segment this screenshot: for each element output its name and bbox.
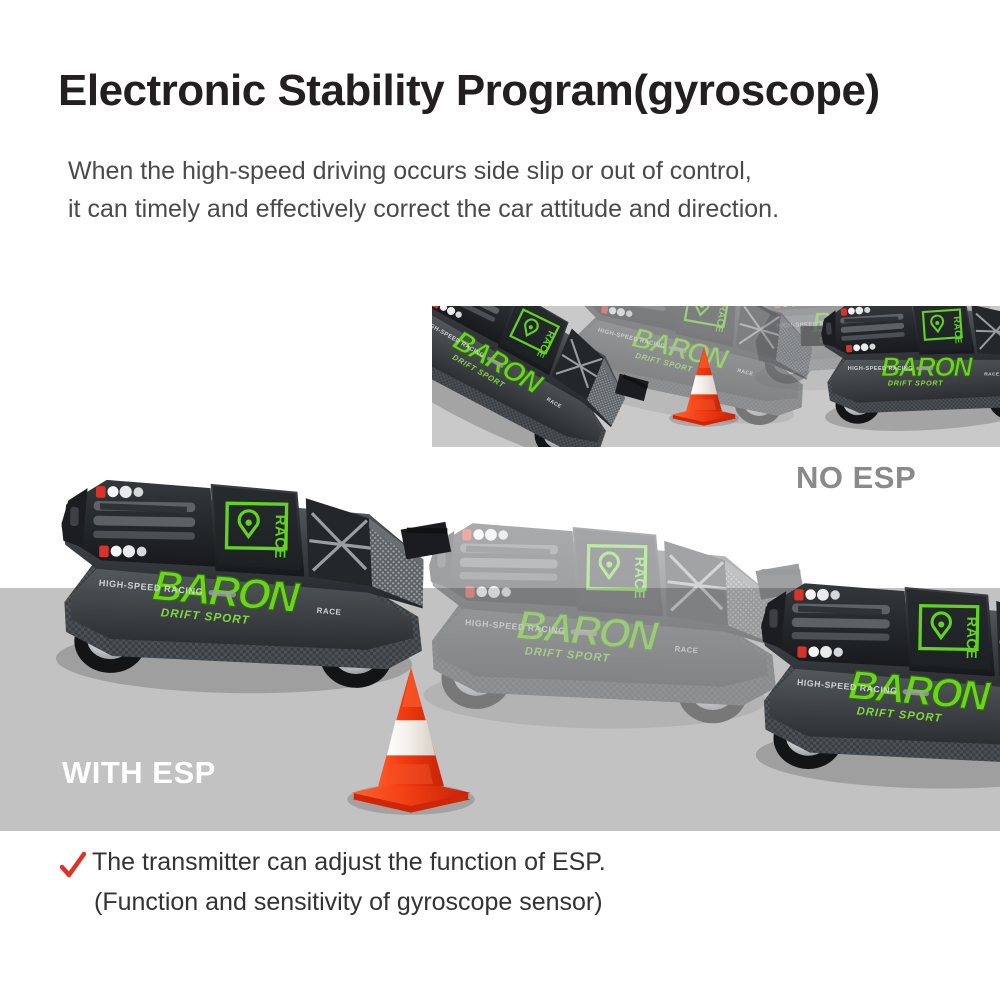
footer-note: The transmitter can adjust the function … bbox=[60, 848, 940, 917]
no-esp-scene-panel bbox=[432, 306, 1000, 447]
no-esp-label: NO ESP bbox=[796, 460, 916, 496]
footer-note-row: The transmitter can adjust the function … bbox=[60, 848, 940, 880]
subtitle-line-1: When the high-speed driving occurs side … bbox=[68, 152, 779, 190]
page-title: Electronic Stability Program(gyroscope) bbox=[58, 66, 880, 116]
with-esp-label: WITH ESP bbox=[62, 755, 216, 791]
with-esp-scene-panel bbox=[0, 588, 1000, 831]
page-subtitle: When the high-speed driving occurs side … bbox=[68, 152, 779, 228]
check-mark-icon bbox=[60, 850, 86, 880]
footer-note-line-1: The transmitter can adjust the function … bbox=[92, 848, 606, 878]
infographic-page: Electronic Stability Program(gyroscope) … bbox=[0, 0, 1000, 1000]
subtitle-line-2: it can timely and effectively correct th… bbox=[68, 190, 779, 228]
footer-note-line-2: (Function and sensitivity of gyroscope s… bbox=[94, 888, 940, 917]
